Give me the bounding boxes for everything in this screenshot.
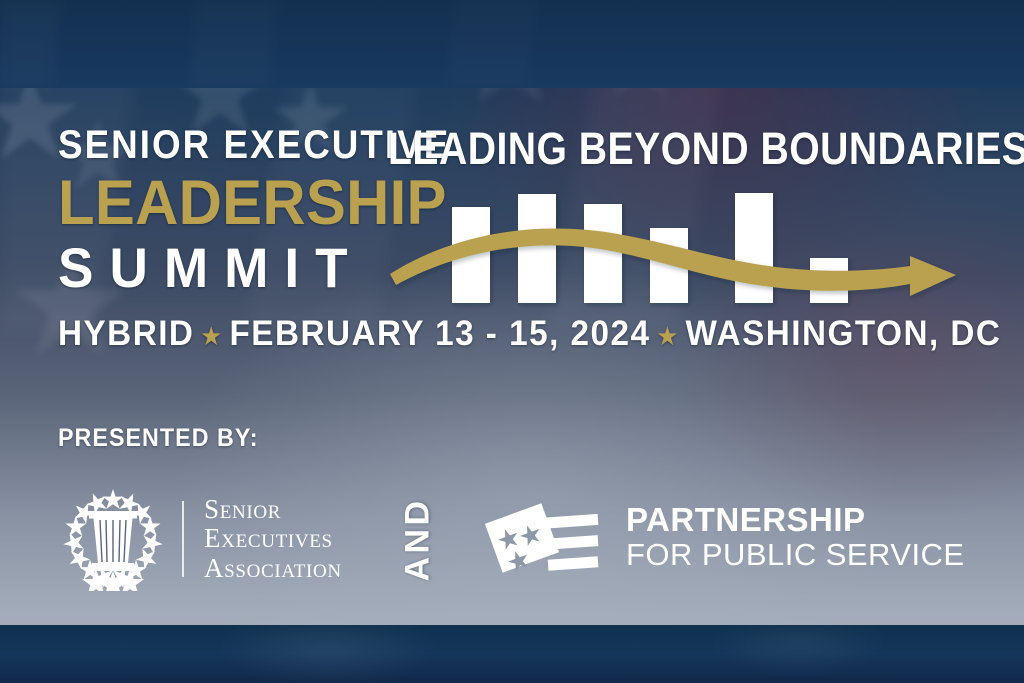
- chart-bar: [584, 204, 622, 303]
- star-separator-icon: ★: [194, 321, 229, 351]
- sea-wordmark: Senior Executives Association: [204, 496, 342, 583]
- event-location: WASHINGTON, DC: [686, 314, 1002, 353]
- bar-chart-graphic: [380, 180, 980, 312]
- and-conjunction-label: AND: [398, 489, 438, 589]
- sea-word-line: Association: [204, 555, 342, 583]
- chart-bar: [735, 193, 773, 303]
- presented-by-label: PRESENTED BY:: [58, 424, 258, 453]
- summit-promo-banner: SENIOR EXECUTIVE LEADERSHIP SUMMIT LEADI…: [0, 0, 1024, 683]
- star-separator-icon: ★: [651, 321, 686, 351]
- sea-word-line: Senior: [204, 496, 342, 524]
- pps-word-line: PARTNERSHIP: [626, 503, 965, 538]
- sponsor-logos-row: Senior Executives Association: [58, 486, 342, 592]
- sea-word-line: Executives: [204, 525, 342, 553]
- flag-stripes-icon: [478, 490, 606, 586]
- sponsor-logo-partnership-for-public-service[interactable]: PARTNERSHIP FOR PUBLIC SERVICE: [478, 490, 965, 586]
- event-details-line: HYBRID★FEBRUARY 13 - 15, 2024★WASHINGTON…: [58, 316, 1001, 351]
- chart-bar: [518, 194, 556, 303]
- sponsor-logo-senior-executives-association[interactable]: Senior Executives Association: [58, 487, 342, 591]
- event-dates: FEBRUARY 13 - 15, 2024: [229, 314, 650, 353]
- event-format: HYBRID: [58, 314, 194, 353]
- logo-divider-rule: [182, 501, 184, 577]
- tagline-leading-beyond-boundaries: LEADING BEYOND BOUNDARIES: [388, 126, 1024, 171]
- pps-word-line: FOR PUBLIC SERVICE: [626, 538, 965, 572]
- pps-wordmark: PARTNERSHIP FOR PUBLIC SERVICE: [626, 503, 965, 572]
- headline-line-summit: SUMMIT: [58, 240, 364, 296]
- sea-seal-icon: [58, 487, 168, 591]
